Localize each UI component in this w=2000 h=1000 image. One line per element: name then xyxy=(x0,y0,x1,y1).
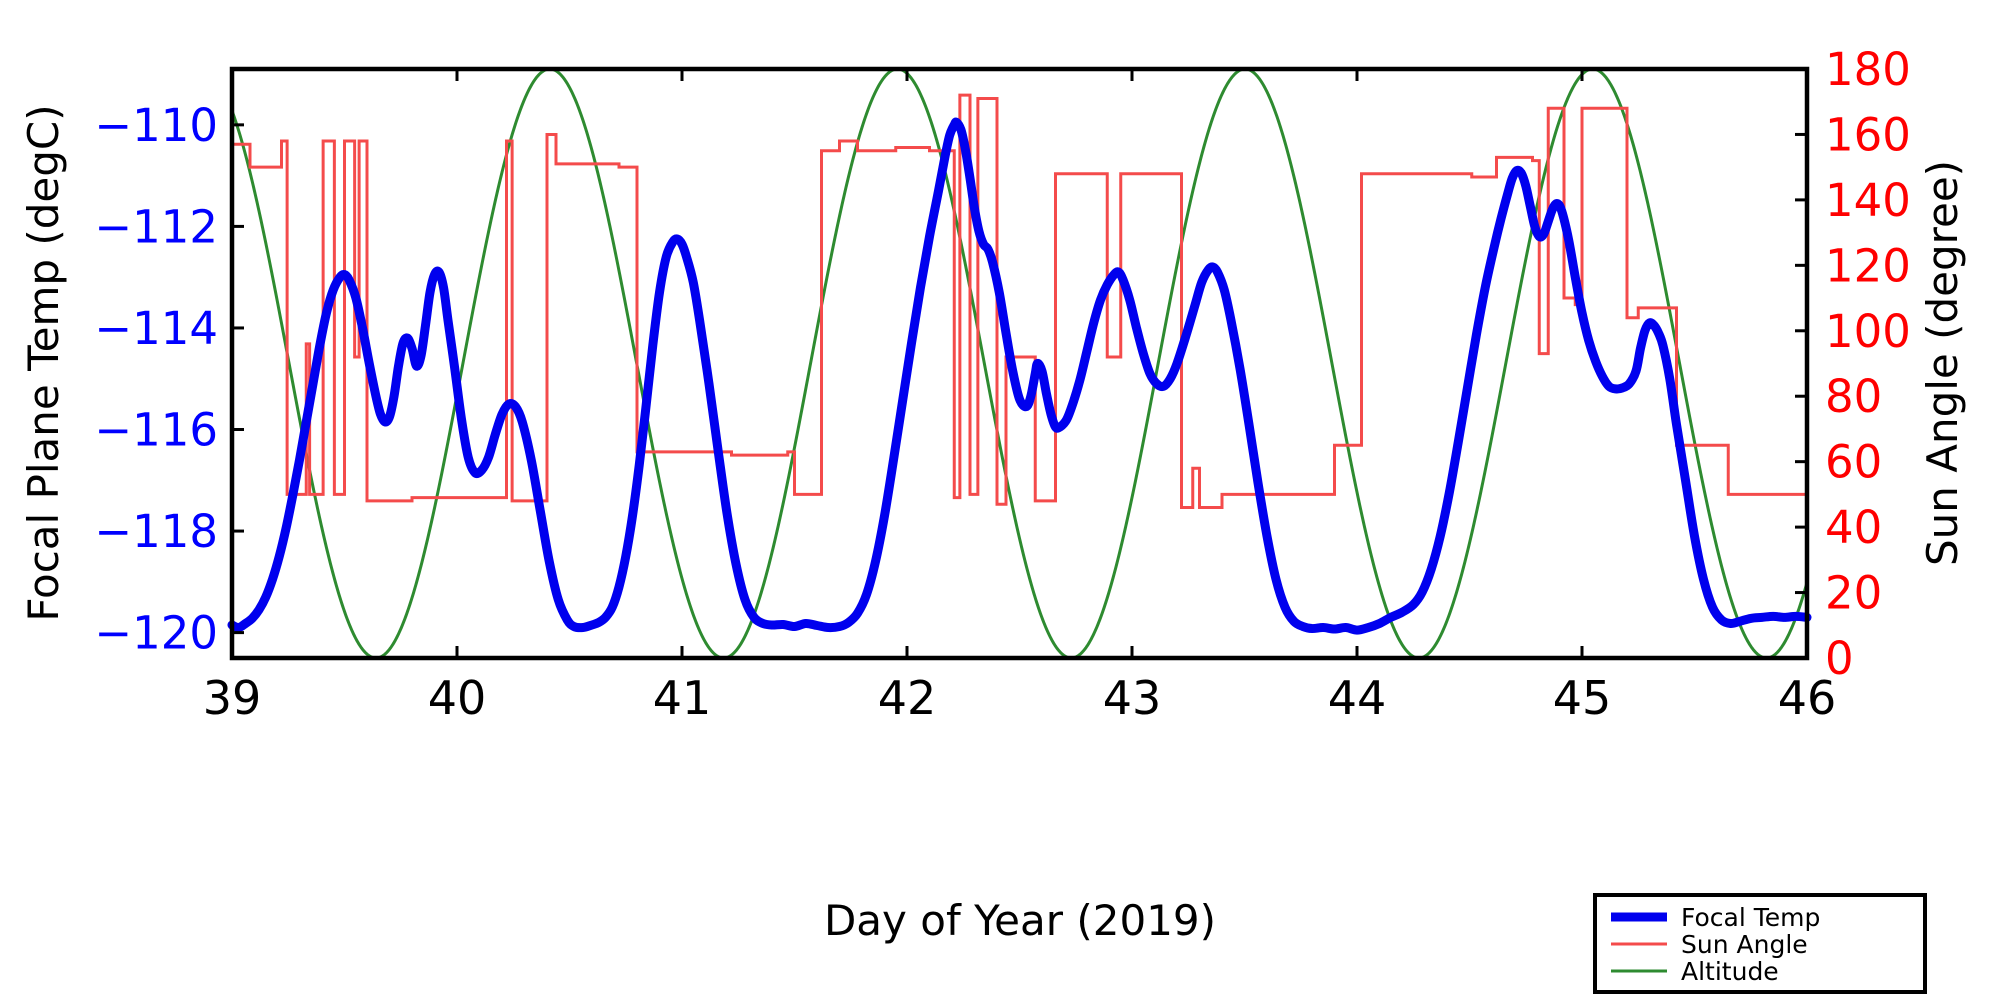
y-right-tick-label: 0 xyxy=(1825,632,1854,685)
x-axis-title: Day of Year (2019) xyxy=(824,896,1216,945)
x-tick-label: 41 xyxy=(653,671,712,725)
x-tick-label: 42 xyxy=(878,671,937,725)
y-left-tick-label: −118 xyxy=(94,505,218,558)
y-right-tick-label: 180 xyxy=(1825,43,1911,96)
figure-background xyxy=(0,0,2000,1000)
chart-legend[interactable]: Focal TempSun AngleAltitude xyxy=(1595,895,1925,992)
y-right-tick-label: 20 xyxy=(1825,567,1882,620)
x-tick-label: 39 xyxy=(203,671,262,725)
y-right-tick-label: 160 xyxy=(1825,108,1911,161)
x-tick-label: 40 xyxy=(428,671,487,725)
x-tick-label: 44 xyxy=(1328,671,1387,725)
y-right-tick-label: 40 xyxy=(1825,501,1882,554)
y-right-tick-label: 140 xyxy=(1825,174,1911,227)
figure-canvas: 3940414243444546 −110−112−114−116−118−12… xyxy=(0,0,2000,1000)
y-left-tick-label: −112 xyxy=(94,200,218,253)
legend-label: Altitude xyxy=(1681,957,1779,986)
y-left-tick-label: −110 xyxy=(94,99,218,152)
y-right-tick-label: 60 xyxy=(1825,436,1882,489)
x-tick-label: 43 xyxy=(1103,671,1162,725)
x-tick-label: 45 xyxy=(1553,671,1612,725)
y-right-tick-label: 80 xyxy=(1825,370,1882,423)
y-left-tick-label: −114 xyxy=(94,302,218,355)
chart-plot: 3940414243444546 −110−112−114−116−118−12… xyxy=(0,0,2000,1000)
y-left-tick-label: −116 xyxy=(94,404,218,457)
y-left-tick-label: −120 xyxy=(94,607,218,660)
y-axis-left-title: Focal Plane Temp (degC) xyxy=(19,104,68,621)
legend-label: Focal Temp xyxy=(1681,903,1820,932)
y-right-tick-label: 100 xyxy=(1825,305,1911,358)
legend-label: Sun Angle xyxy=(1681,930,1808,959)
y-right-tick-label: 120 xyxy=(1825,239,1911,292)
y-axis-right-title: Sun Angle (degree) xyxy=(1918,160,1967,566)
